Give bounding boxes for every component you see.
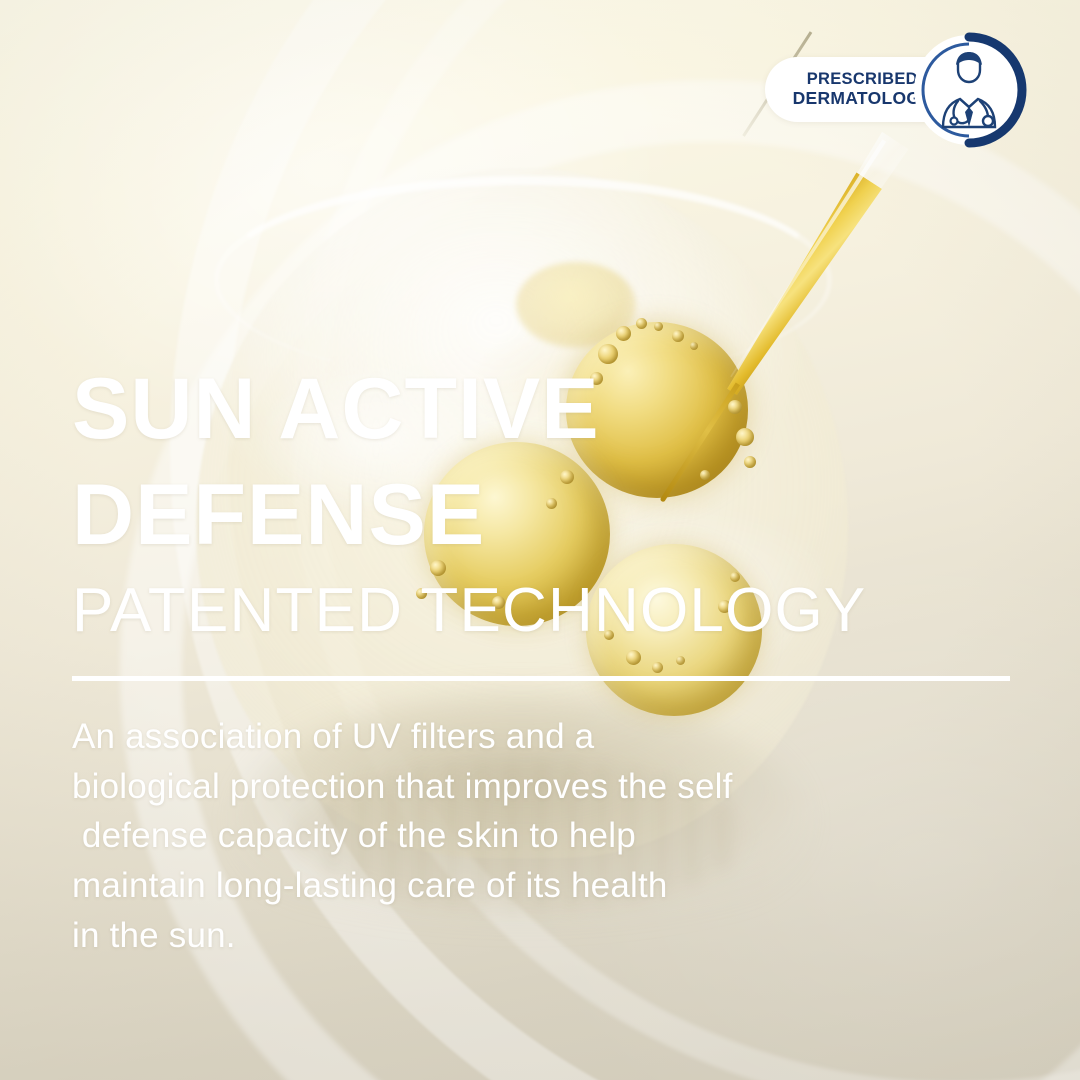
headline-line-2: DEFENSE xyxy=(72,472,485,558)
promo-card: PRESCRIBED BY DERMATOLOGISTS SUN ACTIVE … xyxy=(0,0,1080,1080)
oil-bubble xyxy=(728,400,742,414)
divider-rule xyxy=(72,676,1010,681)
prescribed-by-dermatologists-badge: PRESCRIBED BY DERMATOLOGISTS xyxy=(765,57,1020,122)
oil-bubble xyxy=(652,662,663,673)
oil-bubble xyxy=(598,344,618,364)
oil-bubble xyxy=(654,322,663,331)
body-line-5: in the sun. xyxy=(72,911,972,961)
oil-bubble xyxy=(744,456,756,468)
headline-line-3: PATENTED TECHNOLOGY xyxy=(72,580,866,642)
oil-bubble xyxy=(636,318,647,329)
oil-bubble xyxy=(560,470,574,484)
oil-bubble xyxy=(546,498,557,509)
oil-bubble xyxy=(672,330,684,342)
oil-bubble xyxy=(736,428,754,446)
body-paragraph: An association of UV filters and a biolo… xyxy=(72,712,972,960)
oil-bubble xyxy=(700,470,710,480)
body-line-4: maintain long-lasting care of its health xyxy=(72,861,972,911)
oil-bubble xyxy=(626,650,641,665)
body-line-1: An association of UV filters and a xyxy=(72,712,972,762)
oil-bubble xyxy=(616,326,631,341)
body-line-3: defense capacity of the skin to help xyxy=(72,811,972,861)
headline-line-1: SUN ACTIVE xyxy=(72,366,600,452)
dermatologist-doctor-icon xyxy=(910,31,1028,149)
oil-bubble xyxy=(690,342,698,350)
oil-bubble xyxy=(676,656,685,665)
body-line-2: biological protection that improves the … xyxy=(72,762,972,812)
